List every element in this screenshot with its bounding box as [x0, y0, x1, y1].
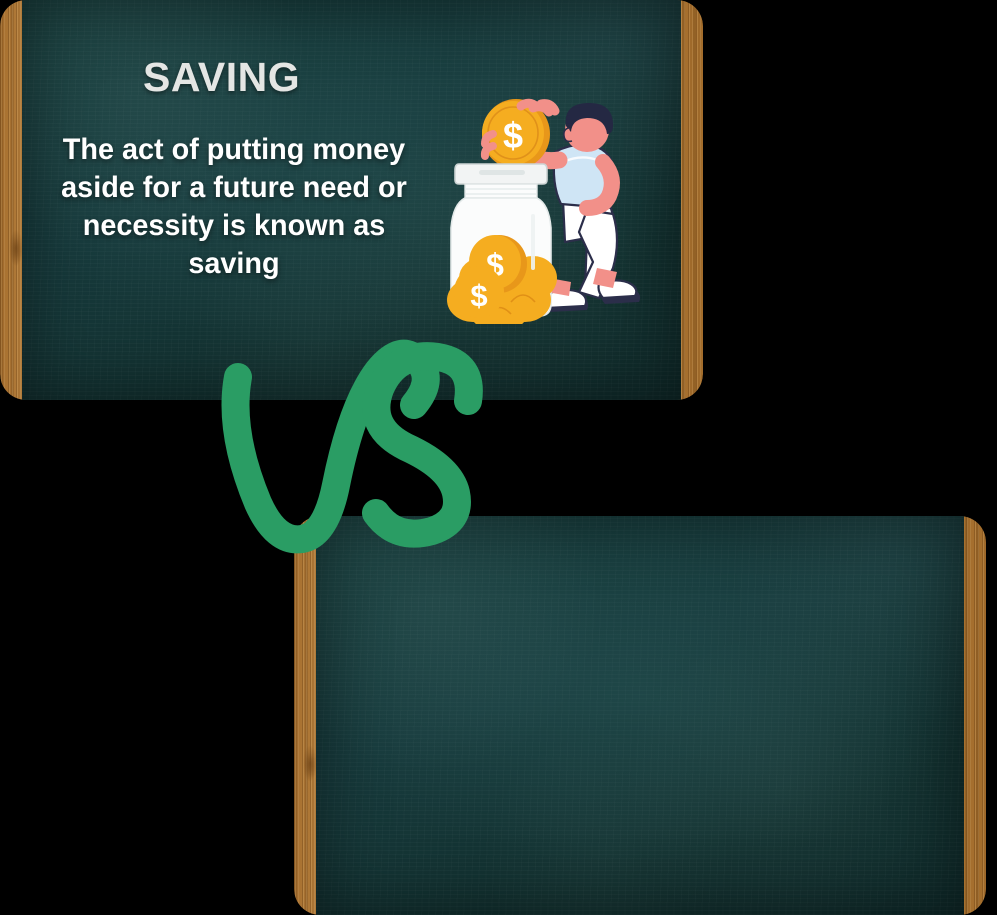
saving-card-body: The act of putting money aside for a fut… [52, 131, 417, 283]
savings-jar-illustration: $ $ $ [437, 92, 672, 324]
svg-text:$: $ [470, 278, 487, 313]
svg-text:$: $ [503, 115, 523, 156]
versus-icon [206, 335, 506, 580]
saving-card-title: SAVING [143, 54, 300, 101]
infographic-canvas: SAVING The act of putting money aside fo… [0, 0, 997, 915]
